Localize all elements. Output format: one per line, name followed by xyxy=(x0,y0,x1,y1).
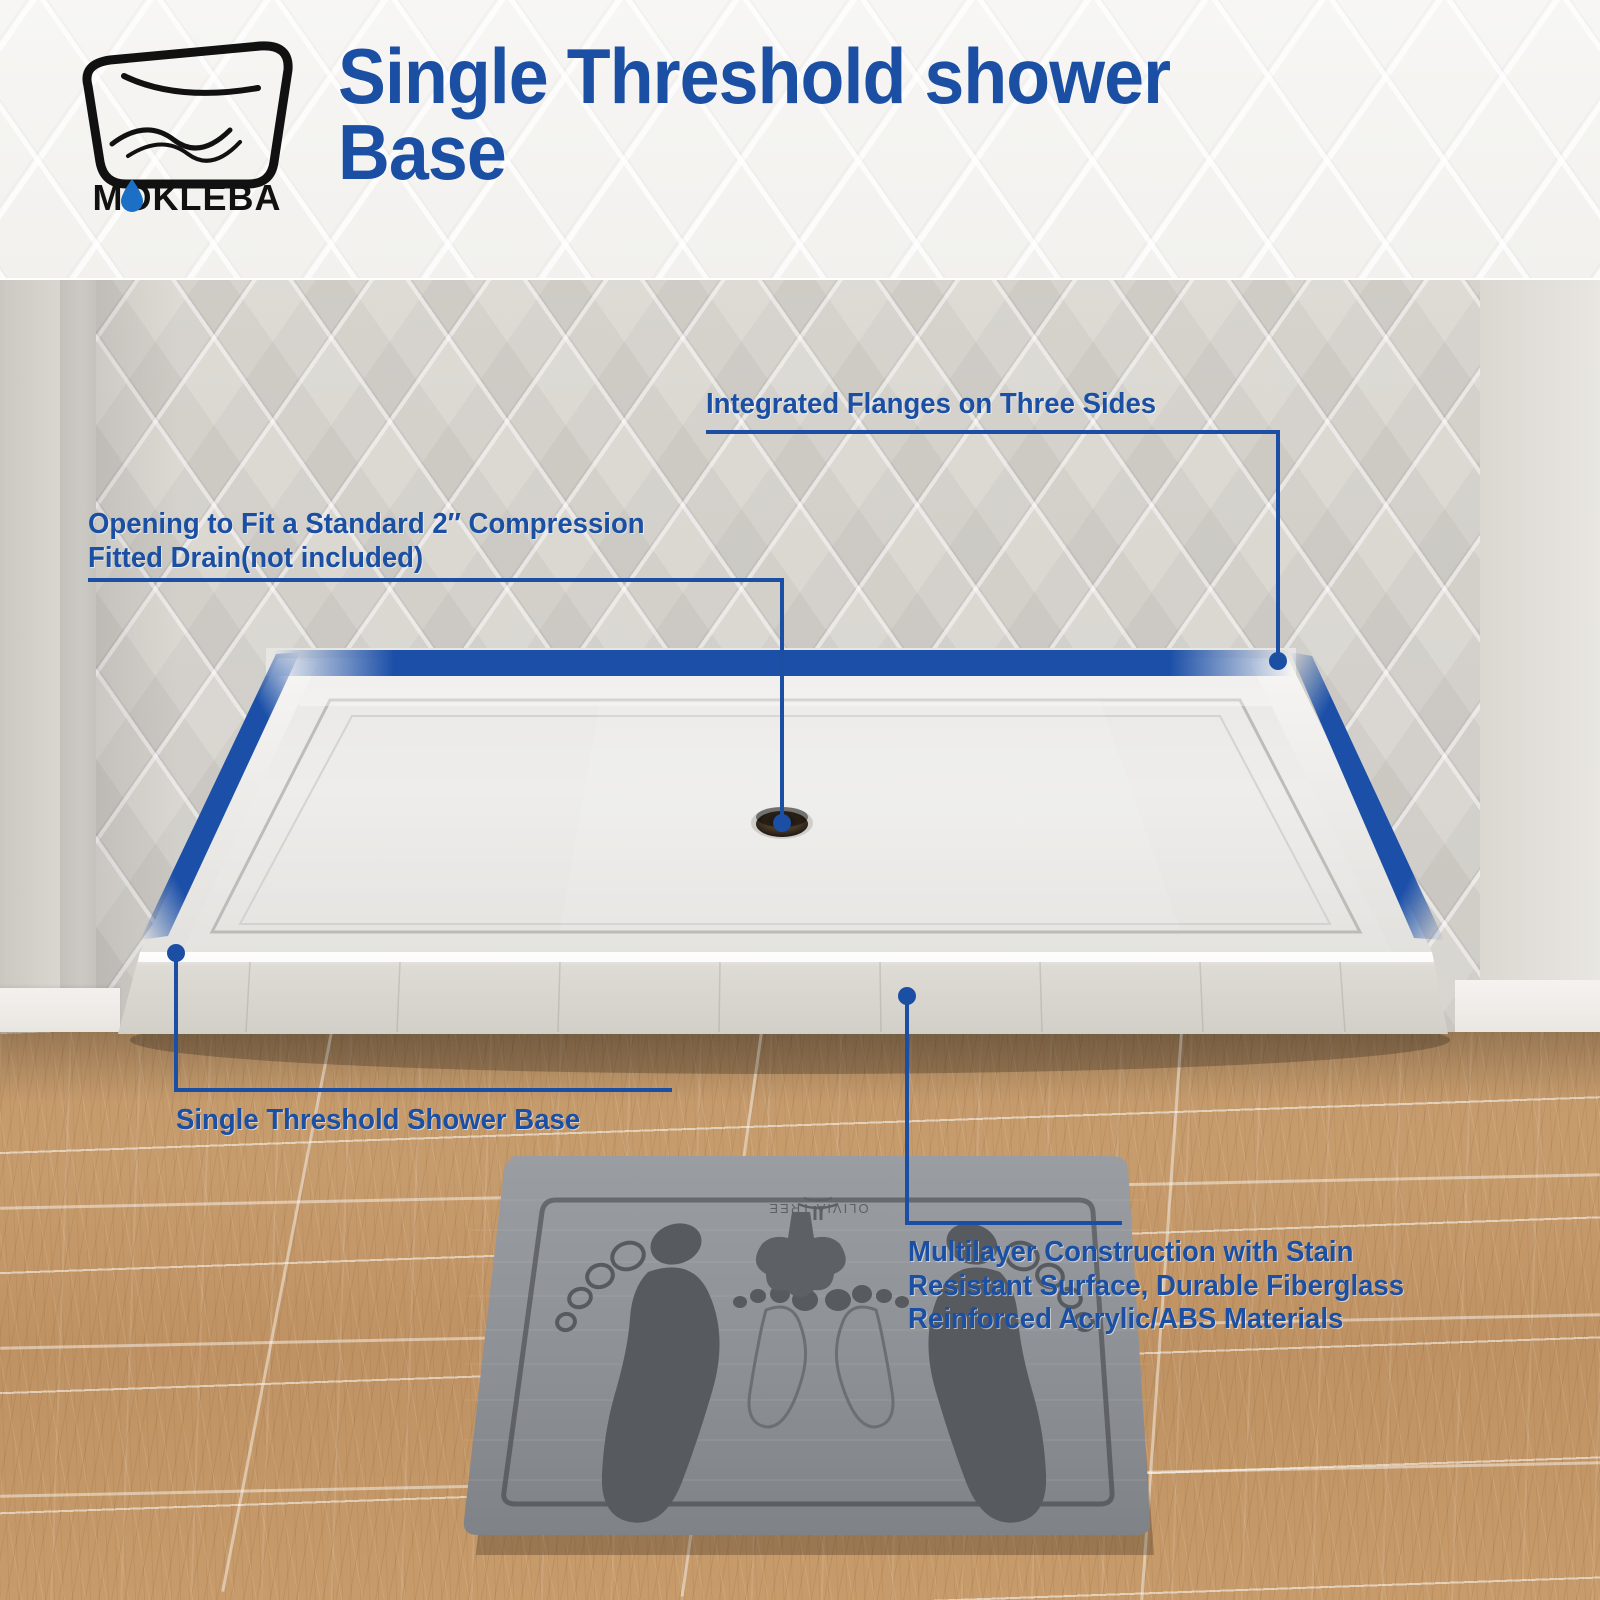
callout-line: Multilayer Construction with Stain xyxy=(908,1236,1404,1270)
leader-base-horizontal xyxy=(174,1088,672,1092)
water-drop-icon xyxy=(119,178,145,212)
callout-line: Single Threshold Shower Base xyxy=(176,1104,580,1138)
page-title: Single Threshold shower Base xyxy=(338,38,1368,191)
leader-flanges-underline xyxy=(706,430,1280,434)
callout-multilayer-construction: Multilayer Construction with Stain Resis… xyxy=(908,1236,1404,1337)
header-band: MOKLEBA Single Threshold shower Base xyxy=(0,0,1600,280)
leader-flanges-vertical xyxy=(1276,430,1280,660)
mat-logo-text: OLIVIA TREE xyxy=(767,1201,868,1216)
leader-multilayer-horizontal xyxy=(905,1221,1122,1225)
leader-opening-vertical xyxy=(780,578,784,824)
leader-multilayer-vertical xyxy=(905,995,909,1225)
page-title-line-1: Single Threshold shower xyxy=(338,38,1368,114)
leader-opening-underline xyxy=(88,578,784,582)
callout-drain-opening: Opening to Fit a Standard 2″ Compression… xyxy=(88,508,645,575)
bath-mat: OLIVIA TREE xyxy=(463,1156,1154,1555)
product-infographic: OLIVIA TREE MOKLEBA Single Threshold sho… xyxy=(0,0,1600,1600)
callout-line: Integrated Flanges on Three Sides xyxy=(706,388,1156,422)
page-title-line-2: Base xyxy=(338,114,1368,190)
callout-integrated-flanges: Integrated Flanges on Three Sides xyxy=(706,388,1156,422)
brand-wordmark: MOKLEBA xyxy=(72,180,302,216)
callout-single-threshold-base: Single Threshold Shower Base xyxy=(176,1104,580,1138)
callout-line: Resistant Surface, Durable Fiberglass xyxy=(908,1270,1404,1304)
leader-base-vertical xyxy=(174,952,178,1092)
leader-flanges-dot xyxy=(1269,652,1287,670)
callout-line: Fitted Drain(not included) xyxy=(88,542,645,576)
callout-line: Reinforced Acrylic/ABS Materials xyxy=(908,1303,1404,1337)
threshold-front-face xyxy=(118,952,1448,1034)
callout-line: Opening to Fit a Standard 2″ Compression xyxy=(88,508,645,542)
leader-opening-dot xyxy=(773,814,791,832)
